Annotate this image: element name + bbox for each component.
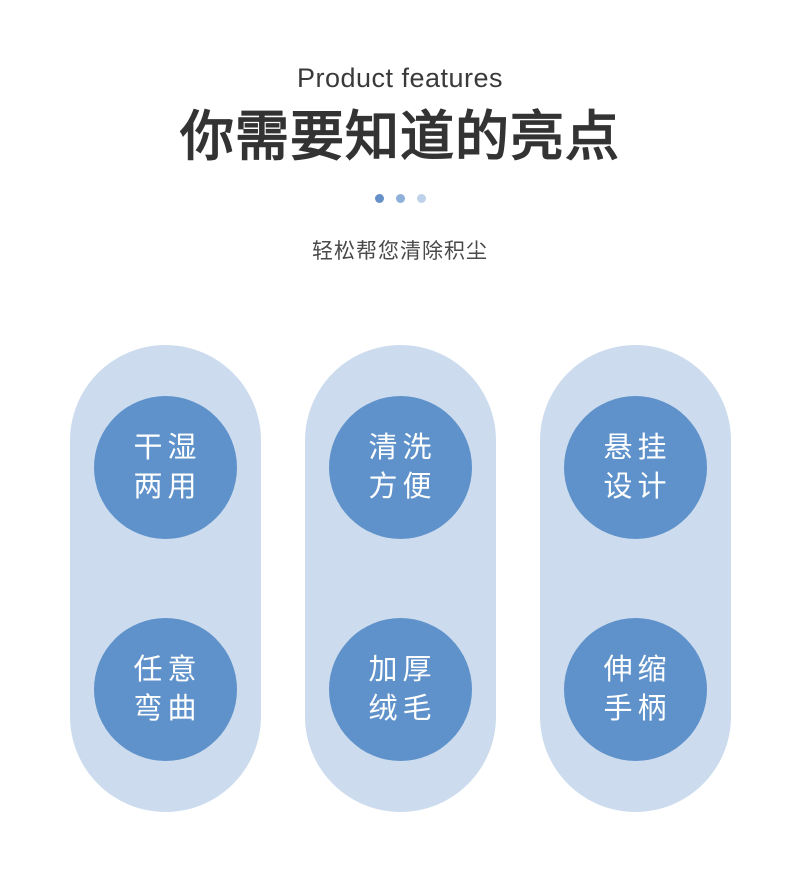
feature-badge-line2: 设计: [598, 468, 671, 506]
feature-badge-line2: 弯曲: [128, 690, 201, 728]
feature-columns: 干湿 两用 任意 弯曲 清洗 方便 加厚 绒毛 悬挂 设计: [0, 345, 800, 812]
feature-badge-line2: 方便: [363, 468, 436, 506]
header-block: Product features 你需要知道的亮点 轻松帮您清除积尘: [0, 0, 800, 266]
feature-badge-line1: 悬挂: [598, 429, 671, 467]
page-title: 你需要知道的亮点: [0, 106, 800, 168]
feature-badge-hanging-design: 悬挂 设计: [564, 396, 707, 539]
feature-column-1: 干湿 两用 任意 弯曲: [70, 345, 261, 812]
feature-badge-line2: 绒毛: [363, 690, 436, 728]
dot-active-icon: [375, 194, 384, 203]
dot-mid-icon: [396, 194, 405, 203]
dot-separator: [0, 192, 800, 204]
feature-badge-line2: 两用: [128, 468, 201, 506]
feature-badge-dry-wet: 干湿 两用: [94, 396, 237, 539]
feature-badge-telescopic-handle: 伸缩 手柄: [564, 618, 707, 761]
feature-column-2: 清洗 方便 加厚 绒毛: [305, 345, 496, 812]
feature-badge-line1: 任意: [128, 651, 201, 689]
dot-faint-icon: [417, 194, 426, 203]
feature-badge-line1: 干湿: [128, 429, 201, 467]
eyebrow-text: Product features: [0, 62, 800, 94]
feature-badge-line2: 手柄: [598, 690, 671, 728]
feature-badge-bendable: 任意 弯曲: [94, 618, 237, 761]
feature-badge-line1: 加厚: [363, 651, 436, 689]
feature-badge-thick-fleece: 加厚 绒毛: [329, 618, 472, 761]
feature-badge-line1: 清洗: [363, 429, 436, 467]
feature-badge-line1: 伸缩: [598, 651, 671, 689]
product-features-page: Product features 你需要知道的亮点 轻松帮您清除积尘 干湿 两用…: [0, 0, 800, 895]
feature-column-3: 悬挂 设计 伸缩 手柄: [540, 345, 731, 812]
subtitle-text: 轻松帮您清除积尘: [0, 238, 800, 265]
feature-badge-easy-clean: 清洗 方便: [329, 396, 472, 539]
